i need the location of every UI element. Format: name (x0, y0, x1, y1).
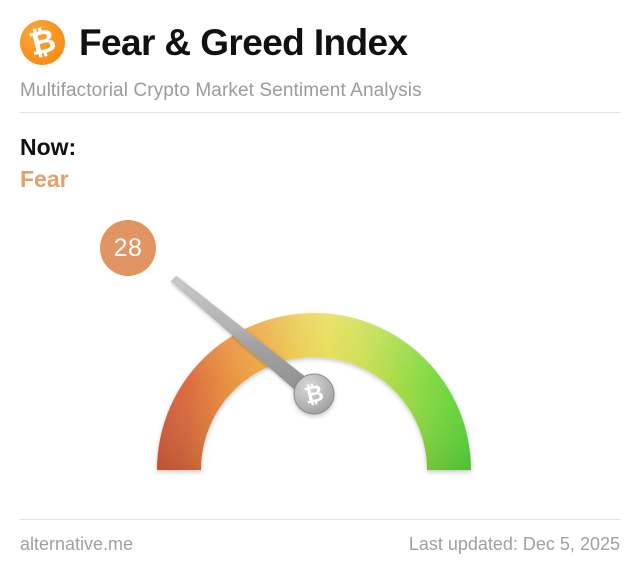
last-updated: Last updated: Dec 5, 2025 (409, 534, 620, 555)
gauge-svg: ₿ (0, 196, 640, 496)
brand-row: ₿ Fear & Greed Index (20, 14, 620, 70)
page-subtitle: Multifactorial Crypto Market Sentiment A… (20, 80, 422, 102)
page-title: Fear & Greed Index (79, 24, 408, 61)
fear-greed-index-widget: ₿ Fear & Greed Index Multifactorial Cryp… (0, 0, 640, 575)
bitcoin-icon: ₿ (20, 20, 65, 65)
header-divider (20, 112, 620, 113)
now-label: Now: (20, 134, 76, 161)
bitcoin-glyph: ₿ (17, 21, 68, 62)
gauge-value: 28 (114, 236, 143, 261)
gauge-chart: ₿ (0, 196, 640, 496)
gauge-needle-hub: ₿ (294, 374, 334, 414)
header: ₿ Fear & Greed Index (20, 14, 620, 74)
source-link[interactable]: alternative.me (20, 534, 133, 555)
footer-divider (20, 519, 620, 520)
sentiment-classification: Fear (20, 166, 69, 193)
gauge-value-badge: 28 (100, 220, 156, 276)
